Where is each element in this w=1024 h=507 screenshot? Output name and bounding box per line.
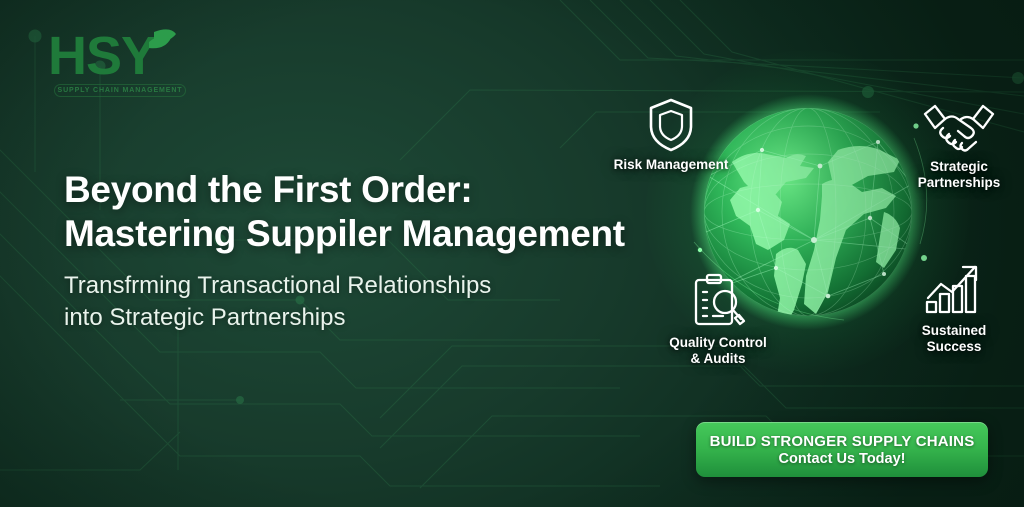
clipboard-search-icon — [689, 272, 747, 330]
feature-quality-control-audits[interactable]: Quality Control & Audits — [648, 272, 788, 367]
feature-strategic-partnerships[interactable]: Strategic Partnerships — [898, 100, 1020, 191]
feature-label-line-2: Partnerships — [898, 175, 1020, 191]
feature-label: Risk Management — [596, 157, 746, 173]
feature-label-line-2: Success — [892, 339, 1016, 355]
cta-secondary-label: Contact Us Today! — [778, 451, 905, 467]
feature-label-line-1: Sustained — [892, 323, 1016, 339]
cta-button[interactable]: BUILD STRONGER SUPPLY CHAINS Contact Us … — [696, 422, 988, 477]
page-subtitle: Transfrming Transactional Relationships … — [64, 270, 584, 333]
shield-icon — [646, 96, 696, 152]
feature-label-line-1: Quality Control — [648, 335, 788, 351]
logo-wordmark: HSY — [48, 26, 198, 82]
subhead-line-1: Transfrming Transactional Relationships — [64, 270, 584, 302]
handshake-icon — [921, 100, 997, 154]
feature-sustained-success[interactable]: Sustained Success — [892, 262, 1016, 355]
feature-risk-management[interactable]: Risk Management — [596, 96, 746, 173]
brand-logo[interactable]: HSY SUPPLY CHAIN MANAGEMENT — [48, 26, 218, 97]
page-title: Beyond the First Order: Mastering Suppil… — [64, 168, 704, 257]
headline-line-1: Beyond the First Order: — [64, 168, 704, 212]
feature-label-line-1: Strategic — [898, 159, 1020, 175]
marketing-banner: HSY SUPPLY CHAIN MANAGEMENT Beyond the F… — [0, 0, 1024, 507]
subhead-line-2: into Strategic Partnerships — [64, 302, 584, 334]
logo-tagline: SUPPLY CHAIN MANAGEMENT — [54, 84, 186, 97]
svg-text:HSY: HSY — [48, 26, 157, 82]
growth-chart-icon — [923, 262, 985, 318]
cta-primary-label: BUILD STRONGER SUPPLY CHAINS — [710, 433, 975, 450]
feature-label-line-2: & Audits — [648, 351, 788, 367]
headline-line-2: Mastering Suppiler Management — [64, 212, 704, 256]
